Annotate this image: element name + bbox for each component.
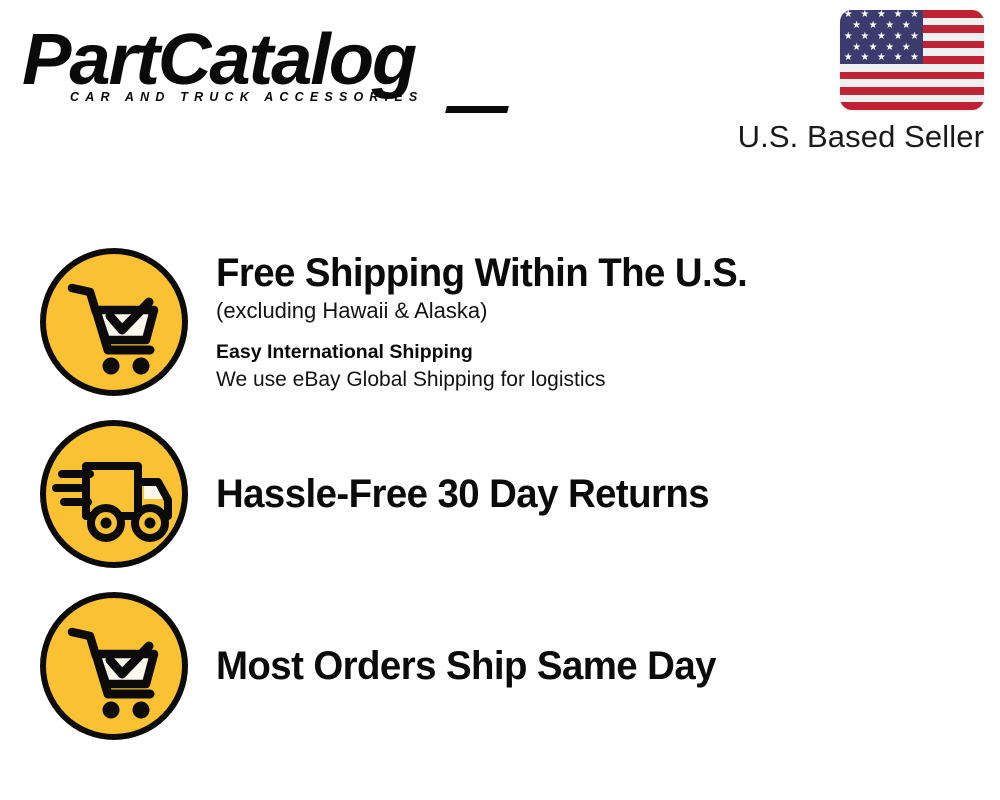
flag-star: ★ (910, 32, 919, 42)
flag-star: ★ (860, 53, 869, 63)
flag-star: ★ (844, 53, 853, 63)
feature-row: Hassle-Free 30 Day Returns (40, 420, 730, 568)
flag-canton: ★★★★★★★★★★★★★★★★★★★★★★★ (840, 10, 923, 64)
flag-star: ★ (844, 10, 853, 20)
shopping-cart-check-icon (40, 248, 188, 396)
flag-stripe (840, 72, 984, 80)
feature-row: Free Shipping Within The U.S. (excluding… (40, 248, 769, 396)
feature-note-body: We use eBay Global Shipping for logistic… (216, 365, 769, 394)
flag-star: ★ (869, 21, 878, 31)
brand-underline-flourish (445, 106, 509, 113)
flag-stripe (840, 87, 984, 95)
feature-title: Free Shipping Within The U.S. (216, 250, 747, 296)
flag-star: ★ (885, 43, 894, 53)
flag-star: ★ (877, 32, 886, 42)
fast-delivery-truck-icon (40, 420, 188, 568)
feature-text: Free Shipping Within The U.S. (excluding… (216, 250, 769, 394)
us-flag-icon: ★★★★★★★★★★★★★★★★★★★★★★★ (840, 10, 984, 110)
flag-star: ★ (893, 53, 902, 63)
feature-text: Hassle-Free 30 Day Returns (216, 471, 730, 517)
flag-star: ★ (860, 32, 869, 42)
feature-note-title: Easy International Shipping (216, 339, 769, 365)
flag-star: ★ (852, 43, 861, 53)
brand-wordmark: PartCatalog (22, 22, 415, 96)
feature-row: Most Orders Ship Same Day (40, 592, 737, 740)
flag-star: ★ (885, 21, 894, 31)
flag-stripe (840, 95, 984, 103)
feature-subtitle: (excluding Hawaii & Alaska) (216, 296, 769, 326)
flag-star: ★ (877, 53, 886, 63)
feature-title: Most Orders Ship Same Day (216, 643, 716, 689)
brand-tagline: CAR AND TRUCK ACCESSORIES (70, 90, 423, 104)
flag-star: ★ (893, 10, 902, 20)
us-based-seller-badge: ★★★★★★★★★★★★★★★★★★★★★★★ U.S. Based Selle… (724, 10, 984, 155)
flag-star: ★ (893, 32, 902, 42)
flag-star: ★ (860, 10, 869, 20)
flag-star: ★ (844, 32, 853, 42)
flag-star: ★ (852, 21, 861, 31)
shopping-cart-check-icon (40, 592, 188, 740)
flag-star: ★ (910, 53, 919, 63)
flag-stripe (840, 79, 984, 87)
flag-star: ★ (910, 10, 919, 20)
flag-stripe (840, 64, 984, 72)
flag-star: ★ (902, 21, 911, 31)
feature-text: Most Orders Ship Same Day (216, 643, 737, 689)
feature-title: Hassle-Free 30 Day Returns (216, 471, 709, 517)
us-based-seller-label: U.S. Based Seller (724, 119, 984, 155)
flag-star: ★ (877, 10, 886, 20)
flag-star: ★ (869, 43, 878, 53)
brand-logo[interactable]: PartCatalog CAR AND TRUCK ACCESSORIES (22, 22, 492, 114)
flag-stripe (840, 102, 984, 110)
flag-star: ★ (902, 43, 911, 53)
